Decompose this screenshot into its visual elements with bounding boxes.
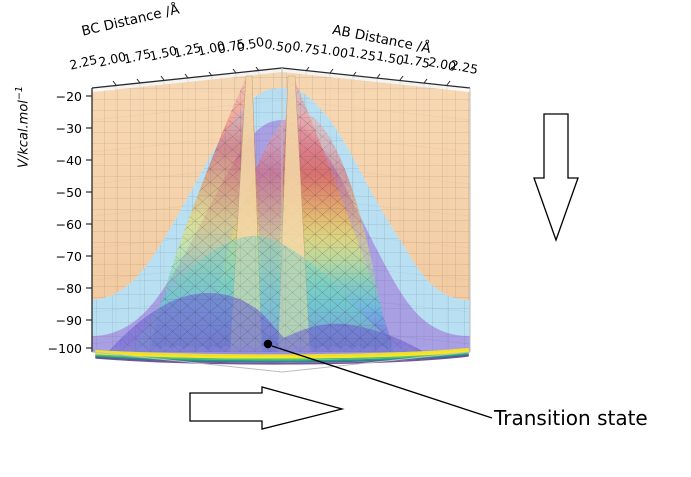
z-tick-label-0: −20: [36, 89, 82, 104]
z-tick-label-2: −40: [36, 153, 82, 168]
z-tick-label-5: −70: [36, 249, 82, 264]
right-arrow-icon: [190, 387, 342, 429]
z-tick-label-6: −80: [36, 281, 82, 296]
z-axis-title-main: V/kcal.mol: [16, 100, 31, 168]
z-tick-label-7: −90: [36, 313, 82, 328]
z-tick-label-3: −50: [36, 185, 82, 200]
z-tick-label-8: −100: [30, 341, 82, 356]
figure-canvas: BC Distance /Å AB Distance /Å V/kcal.mol…: [0, 0, 691, 477]
transition-state-marker: [264, 340, 272, 348]
z-tick-label-1: −30: [36, 121, 82, 136]
z-axis-title-exponent: −1: [14, 86, 25, 100]
down-arrow-icon: [534, 114, 578, 240]
z-tick-label-4: −60: [36, 217, 82, 232]
z-axis-title: V/kcal.mol−1: [14, 86, 31, 168]
transition-state-label: Transition state: [494, 406, 648, 430]
potential-energy-surface: [92, 72, 470, 356]
z-tick-marks: [86, 96, 92, 348]
